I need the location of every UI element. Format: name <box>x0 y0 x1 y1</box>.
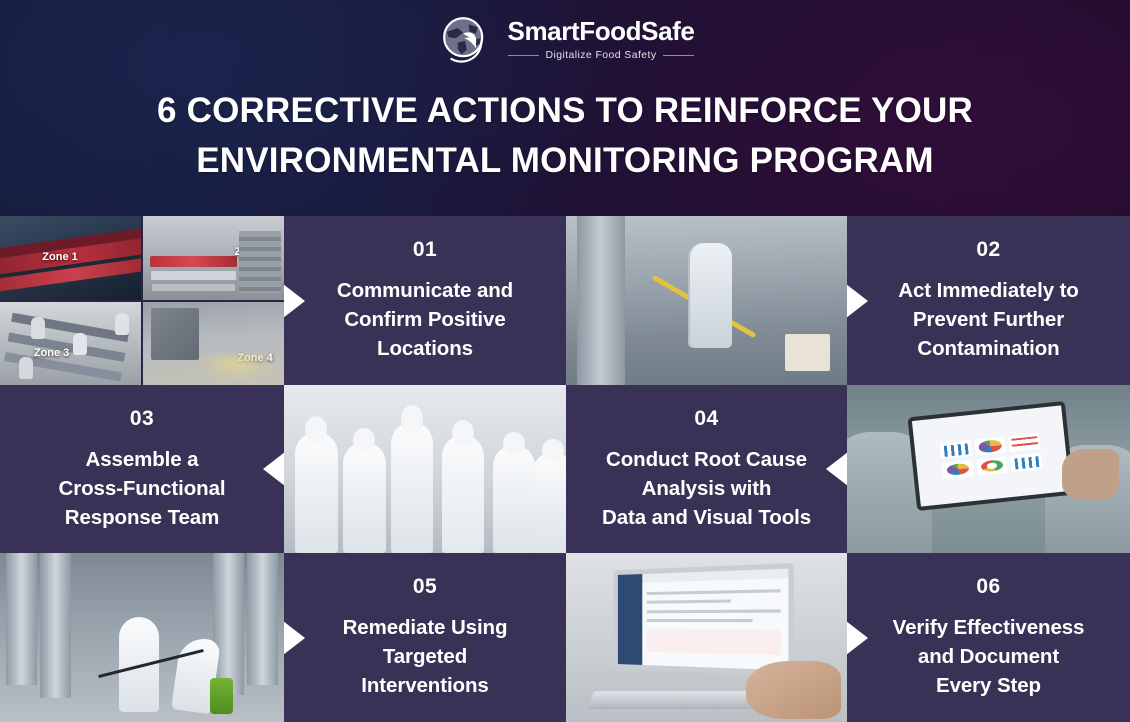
tagline-rule-left <box>508 55 539 56</box>
arrow-right-icon <box>847 284 868 318</box>
step-title-05: Remediate Using Targeted Interventions <box>343 613 508 700</box>
brand-tagline: Digitalize Food Safety <box>546 49 657 61</box>
brand-logo: SmartFoodSafe Digitalize Food Safety <box>0 10 1130 68</box>
zone-quad-photo: Zone 1 Zone 2 Zone 3 Zone 4 <box>0 216 284 385</box>
arrow-right-icon <box>284 284 305 318</box>
dashboard-widget-pie-2 <box>942 460 974 479</box>
laptop-screen-row <box>647 609 781 613</box>
spray-chemical-jug <box>210 678 233 713</box>
step-title-06-line-2: and Document <box>893 642 1085 671</box>
zone-image-4: Zone 4 <box>143 302 284 386</box>
laptop-typing-hands <box>746 661 842 718</box>
laptop-software-photo <box>566 553 847 722</box>
brand-name: SmartFoodSafe <box>508 17 695 46</box>
step-title-04-line-2: Analysis with <box>602 474 811 503</box>
step-panel-01[interactable]: 01 Communicate and Confirm Positive Loca… <box>284 216 566 385</box>
step-title-01-line-2: Confirm Positive <box>337 305 513 334</box>
step-title-01-line-3: Locations <box>337 334 513 363</box>
step-title-02-line-2: Prevent Further <box>898 305 1078 334</box>
step-title-02-line-1: Act Immediately to <box>898 276 1078 305</box>
step-title-03-line-3: Response Team <box>59 503 226 532</box>
step-title-02-line-3: Contamination <box>898 334 1078 363</box>
arrow-left-icon <box>826 452 847 486</box>
spray-tank-1 <box>6 553 37 685</box>
team-person-3 <box>391 422 433 553</box>
step-title-03: Assemble a Cross-Functional Response Tea… <box>59 445 226 532</box>
step-title-01: Communicate and Confirm Positive Locatio… <box>337 276 513 363</box>
spray-tank-2 <box>40 553 71 698</box>
step-title-06-line-1: Verify Effectiveness <box>893 613 1085 642</box>
team-person-2 <box>343 442 385 553</box>
arrow-left-icon <box>263 452 284 486</box>
team-person-4 <box>442 435 484 553</box>
laptop-screen <box>614 563 795 676</box>
team-person-6 <box>532 452 566 553</box>
step-number-04: 04 <box>694 407 718 431</box>
tagline-rule-right <box>663 55 694 56</box>
team-person-1 <box>295 432 337 553</box>
spray-tank-4 <box>213 553 244 695</box>
dashboard-widget-pie <box>974 436 1006 455</box>
step-number-02: 02 <box>976 238 1000 262</box>
arrow-right-icon <box>284 621 305 655</box>
arrow-right-icon <box>847 621 868 655</box>
step-title-05-line-1: Remediate Using <box>343 613 508 642</box>
cross-functional-team-photo <box>284 385 566 553</box>
laptop-screen-row <box>647 619 753 622</box>
steps-grid: Zone 1 Zone 2 Zone 3 Zone 4 01 Communica… <box>0 216 1130 722</box>
team-person-5 <box>493 445 535 553</box>
cleaning-squeegee-icon <box>651 275 756 338</box>
step-title-04-line-1: Conduct Root Cause <box>602 445 811 474</box>
header-banner: SmartFoodSafe Digitalize Food Safety 6 C… <box>0 0 1130 216</box>
zone-image-2: Zone 2 <box>143 216 284 300</box>
tablet-device <box>908 400 1075 510</box>
brand-tagline-row: Digitalize Food Safety <box>508 49 695 61</box>
tablet-dashboard-photo <box>847 385 1130 553</box>
step-panel-02[interactable]: 02 Act Immediately to Prevent Further Co… <box>847 216 1130 385</box>
step-title-03-line-1: Assemble a <box>59 445 226 474</box>
zone-label-4: Zone 4 <box>237 352 272 364</box>
step-panel-06[interactable]: 06 Verify Effectiveness and Document Eve… <box>847 553 1130 722</box>
laptop-screen-row <box>647 599 731 603</box>
page-title: 6 CORRECTIVE ACTIONS TO REINFORCE YOUR E… <box>0 86 1130 186</box>
laptop-screen-row <box>647 589 781 595</box>
step-title-05-line-2: Targeted <box>343 642 508 671</box>
step-panel-04[interactable]: 04 Conduct Root Cause Analysis with Data… <box>566 385 847 553</box>
title-line-1: 6 CORRECTIVE ACTIONS TO REINFORCE YOUR <box>0 86 1130 136</box>
dashboard-widget-bars <box>940 440 972 459</box>
zone-image-3: Zone 3 <box>0 302 141 386</box>
step-number-05: 05 <box>413 575 437 599</box>
zone-label-3: Zone 3 <box>34 347 69 359</box>
step-number-03: 03 <box>130 407 154 431</box>
infographic-page: SmartFoodSafe Digitalize Food Safety 6 C… <box>0 0 1130 722</box>
step-title-02: Act Immediately to Prevent Further Conta… <box>898 276 1078 363</box>
step-title-04: Conduct Root Cause Analysis with Data an… <box>602 445 811 532</box>
tablet-pointing-hand <box>1062 449 1119 499</box>
step-panel-03[interactable]: 03 Assemble a Cross-Functional Response … <box>0 385 284 553</box>
step-title-04-line-3: Data and Visual Tools <box>602 503 811 532</box>
dashboard-widget-donut <box>976 456 1008 475</box>
globe-leaf-icon <box>436 10 494 68</box>
cleaning-container-icon <box>785 334 830 371</box>
step-number-06: 06 <box>976 575 1000 599</box>
step-panel-05[interactable]: 05 Remediate Using Targeted Intervention… <box>284 553 566 722</box>
step-title-01-line-1: Communicate and <box>337 276 513 305</box>
step-title-05-line-3: Interventions <box>343 671 508 700</box>
zone-image-1: Zone 1 <box>0 216 141 300</box>
step-number-01: 01 <box>413 238 437 262</box>
sanitation-spraying-photo <box>0 553 284 722</box>
step-title-03-line-2: Cross-Functional <box>59 474 226 503</box>
zone-label-1: Zone 1 <box>42 251 77 263</box>
laptop-screen-alert-block <box>647 628 781 655</box>
title-line-2: ENVIRONMENTAL MONITORING PROGRAM <box>0 136 1130 186</box>
laptop-screen-toolbar <box>643 568 790 582</box>
worker-cleaning-floor-photo <box>566 216 847 385</box>
step-title-06: Verify Effectiveness and Document Every … <box>893 613 1085 700</box>
spray-tank-3 <box>247 553 278 685</box>
step-title-06-line-3: Every Step <box>893 671 1085 700</box>
zone-label-2: Zone 2 <box>234 246 269 258</box>
laptop-screen-sidebar <box>618 574 642 665</box>
dashboard-widget-lines <box>1009 433 1041 452</box>
dashboard-widget-bars-2 <box>1011 452 1043 471</box>
